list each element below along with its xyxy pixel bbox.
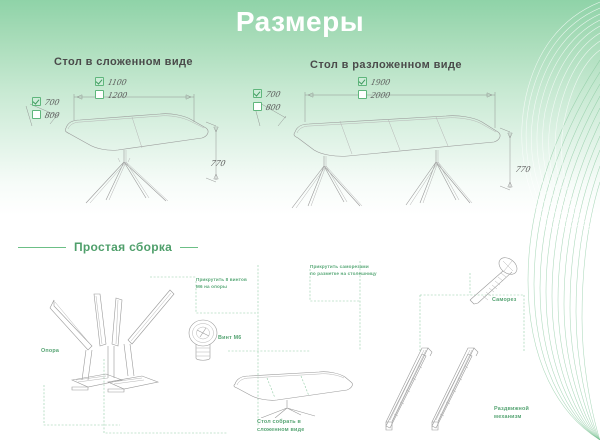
option-value: 1900 [370, 77, 391, 87]
option-row[interactable]: 800 [32, 109, 59, 120]
folded-depth-options[interactable]: 700 800 [32, 96, 59, 122]
part-label-assembled-table: Стол собрать в сложенном виде [257, 419, 304, 435]
divider-left [18, 247, 66, 248]
option-value: 800 [44, 110, 61, 120]
assembly-section-header: Простая сборка [0, 238, 600, 256]
poster-page: Размеры Стол в сложенном виде 1100 1200 [0, 0, 600, 440]
assembly-note-bolts: Прикрутить 8 винтов М6 на опоры [196, 277, 247, 291]
checkbox-checked-icon[interactable] [358, 77, 367, 86]
assembly-note-screws: Прикрутить саморезами по разметке на сто… [310, 264, 377, 278]
divider-right [180, 247, 198, 248]
part-label-vint-m6: Винт М6 [218, 335, 242, 343]
folded-table-drawing [20, 70, 250, 210]
assembled-table-drawing [215, 358, 355, 418]
unfolded-height-label: 770 [515, 164, 532, 174]
checkbox-unchecked-icon[interactable] [358, 90, 367, 99]
option-row[interactable]: 700 [253, 88, 280, 99]
option-row[interactable]: 1900 [358, 76, 390, 87]
checkbox-checked-icon[interactable] [253, 89, 262, 98]
unfolded-length-options[interactable]: 1900 2000 [358, 76, 390, 102]
checkbox-checked-icon[interactable] [32, 97, 41, 106]
option-row[interactable]: 1100 [95, 76, 127, 87]
part-label-slide-mechanism: Раздвижной механизм [494, 406, 529, 422]
folded-length-options[interactable]: 1100 1200 [95, 76, 127, 102]
option-row[interactable]: 700 [32, 96, 59, 107]
option-value: 800 [265, 102, 282, 112]
checkbox-unchecked-icon[interactable] [32, 110, 41, 119]
checkbox-unchecked-icon[interactable] [253, 102, 262, 111]
section-heading-unfolded: Стол в разложенном виде [310, 59, 462, 71]
checkbox-checked-icon[interactable] [95, 77, 104, 86]
page-title: Размеры [0, 6, 600, 38]
option-value: 700 [44, 97, 61, 107]
folded-height-label: 770 [210, 158, 227, 168]
section-heading-folded: Стол в сложенном виде [54, 56, 193, 68]
option-row[interactable]: 2000 [358, 89, 390, 100]
option-row[interactable]: 800 [253, 101, 280, 112]
checkbox-unchecked-icon[interactable] [95, 90, 104, 99]
option-row[interactable]: 1200 [95, 89, 127, 100]
option-value: 1100 [107, 77, 128, 87]
option-value: 2000 [370, 90, 391, 100]
assembly-heading: Простая сборка [66, 240, 180, 254]
slide-mechanism-drawing [382, 344, 492, 436]
option-value: 700 [265, 89, 282, 99]
option-value: 1200 [107, 90, 128, 100]
part-label-opora: Опора [41, 348, 59, 356]
unfolded-depth-options[interactable]: 700 800 [253, 88, 280, 114]
part-label-samorez: Саморез [492, 297, 517, 305]
